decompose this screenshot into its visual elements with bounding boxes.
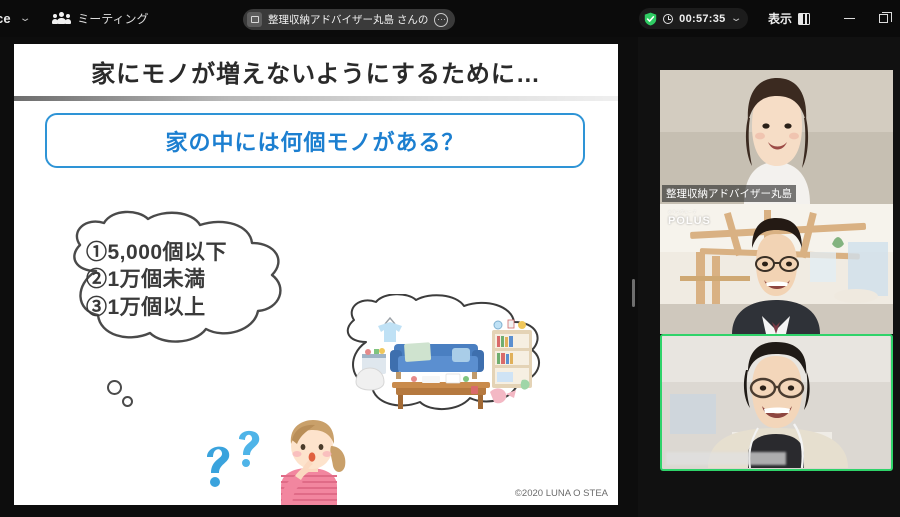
thinking-woman-illustration	[259, 414, 369, 505]
chevron-down-icon[interactable]: ⌄	[729, 14, 742, 24]
meeting-tab-label: ミーティング	[77, 10, 148, 27]
answers-thought-bubble: ①5,000個以下②1万個未満③1万個以上	[54, 209, 354, 359]
workspace-name[interactable]: ce	[0, 11, 11, 26]
polus-watermark: ポラスグループ POLUS	[668, 210, 711, 227]
meeting-timer: 00:57:35	[679, 13, 725, 25]
layout-icon	[798, 13, 810, 25]
answer-option-3: ③1万個以上	[86, 294, 336, 321]
participant-1-video	[660, 70, 893, 204]
polus-watermark-text: POLUS	[668, 215, 711, 227]
question-text: 家の中には何個モノがある？	[165, 125, 464, 157]
titlebar-right-group: 00:57:35 ⌄ 表示	[639, 0, 900, 37]
resize-handle[interactable]	[632, 279, 635, 307]
participant-video-rail: 整理収納アドバイザー丸島	[638, 37, 900, 517]
shared-screen-stage[interactable]: 家にモノが増えないようにするために… 家の中には何個モノがある？ ①5,000個…	[0, 37, 628, 517]
title-bar: ce ⌄ ミーティング 整理収納アドバイザー丸島 さんの	[0, 0, 900, 37]
video-tile-1[interactable]: 整理収納アドバイザー丸島	[660, 70, 893, 204]
room-furniture-illustration	[326, 294, 571, 429]
screen-share-icon	[247, 12, 262, 27]
meeting-window: ce ⌄ ミーティング 整理収納アドバイザー丸島 さんの	[0, 0, 900, 517]
question-box: 家の中には何個モノがある？	[45, 113, 585, 168]
copyright-text: ©2020 LUNA O STEA	[515, 488, 608, 499]
participant-1-name: 整理収納アドバイザー丸島	[662, 185, 796, 202]
slide-title: 家にモノが増えないようにするために…	[14, 54, 618, 89]
encryption-timer-group[interactable]: 00:57:35 ⌄	[639, 8, 748, 29]
clock-icon	[663, 14, 673, 24]
view-button[interactable]: 表示	[768, 10, 810, 27]
pane-divider[interactable]	[628, 37, 638, 517]
restore-icon	[879, 14, 888, 23]
titlebar-left-group: ce ⌄ ミーティング	[0, 10, 149, 27]
polus-watermark-sub: ポラスグループ	[668, 210, 711, 215]
restore-button[interactable]	[866, 0, 900, 37]
people-icon	[53, 12, 70, 25]
meeting-tab[interactable]: ミーティング	[53, 10, 148, 27]
answers-text: ①5,000個以下②1万個未満③1万個以上	[86, 239, 336, 321]
answer-option-1: ①5,000個以下	[86, 239, 336, 266]
shield-check-icon	[644, 12, 657, 26]
title-divider	[14, 96, 618, 101]
screen-share-chip[interactable]: 整理収納アドバイザー丸島 さんの	[243, 9, 455, 30]
presentation-slide: 家にモノが増えないようにするために… 家の中には何個モノがある？ ①5,000個…	[14, 44, 618, 505]
video-tile-3-active-speaker[interactable]	[660, 334, 893, 471]
chevron-down-icon[interactable]: ⌄	[19, 14, 32, 24]
participant-3-name-blurred	[666, 452, 786, 465]
share-chip-label: 整理収納アドバイザー丸島 さんの	[268, 12, 428, 27]
answer-option-2: ②1万個未満	[86, 266, 336, 293]
view-button-label: 表示	[768, 10, 792, 27]
video-tile-2[interactable]: ポラスグループ POLUS	[660, 204, 893, 334]
minimize-icon	[844, 18, 855, 20]
participant-3-video	[662, 336, 890, 468]
minimize-button[interactable]	[832, 0, 866, 37]
more-options-icon[interactable]	[434, 13, 448, 27]
window-controls	[832, 0, 900, 37]
